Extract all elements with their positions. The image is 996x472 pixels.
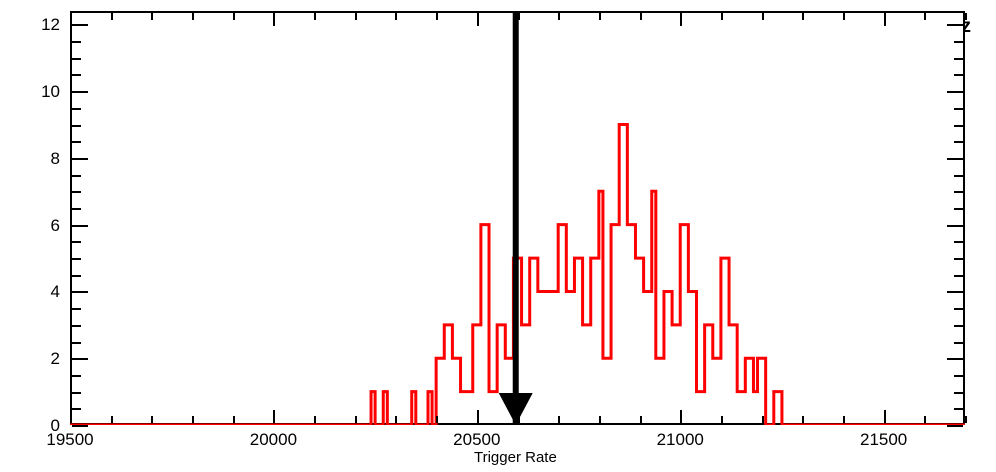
x-axis-mirror-tick — [477, 13, 479, 26]
y-axis-mirror-tick — [947, 425, 963, 427]
y-axis-minor-tick — [72, 141, 81, 143]
y-axis-minor-tick — [72, 208, 81, 210]
x-axis-major-tick — [884, 410, 886, 423]
y-axis-minor-tick — [72, 408, 81, 410]
y-axis-minor-tick — [72, 275, 81, 277]
x-axis-mirror-tick — [640, 13, 642, 20]
y-axis-minor-tick — [72, 108, 81, 110]
y-axis-tick-label: 12 — [18, 16, 60, 33]
y-axis-mirror-tick — [954, 141, 963, 143]
y-axis-mirror-tick — [954, 275, 963, 277]
x-axis-minor-tick — [395, 416, 397, 423]
y-axis-mirror-tick — [947, 358, 963, 360]
y-axis-mirror-tick — [954, 175, 963, 177]
y-axis-minor-tick — [72, 125, 81, 127]
y-axis-major-tick — [72, 158, 88, 160]
y-axis-minor-tick — [72, 308, 81, 310]
x-axis-mirror-tick — [518, 13, 520, 20]
y-axis-tick-label: 10 — [18, 83, 60, 100]
y-axis-mirror-tick — [954, 325, 963, 327]
y-axis-mirror-tick — [954, 241, 963, 243]
x-axis-mirror-tick — [802, 13, 804, 20]
y-axis-tick-label: 2 — [18, 350, 60, 367]
y-axis-mirror-tick — [954, 375, 963, 377]
x-axis-minor-tick — [436, 416, 438, 423]
y-axis-mirror-tick — [947, 158, 963, 160]
x-axis-minor-tick — [151, 416, 153, 423]
x-axis-mirror-tick — [273, 13, 275, 26]
x-axis-minor-tick — [965, 416, 967, 423]
x-axis-minor-tick — [640, 416, 642, 423]
y-axis-mirror-tick — [954, 392, 963, 394]
x-axis-minor-tick — [762, 416, 764, 423]
y-axis-mirror-tick — [954, 74, 963, 76]
histogram-svg — [70, 11, 965, 425]
y-axis-major-tick — [72, 358, 88, 360]
x-axis-minor-tick — [721, 416, 723, 423]
y-axis-mirror-tick — [954, 191, 963, 193]
x-axis-mirror-tick — [70, 13, 72, 26]
y-axis-mirror-tick — [947, 225, 963, 227]
x-axis-minor-tick — [802, 416, 804, 423]
x-axis-minor-tick — [558, 416, 560, 423]
x-axis-mirror-tick — [762, 13, 764, 20]
y-axis-mirror-tick — [954, 408, 963, 410]
y-axis-major-tick — [72, 225, 88, 227]
x-axis-minor-tick — [843, 416, 845, 423]
current-rate-marker — [499, 11, 533, 425]
x-axis-mirror-tick — [151, 13, 153, 20]
x-axis-mirror-tick — [965, 13, 967, 20]
x-axis-mirror-tick — [599, 13, 601, 20]
y-axis-minor-tick — [72, 258, 81, 260]
x-axis-mirror-tick — [436, 13, 438, 20]
y-axis-major-tick — [72, 24, 88, 26]
x-axis-major-tick — [273, 410, 275, 423]
y-axis-minor-tick — [72, 342, 81, 344]
x-axis-mirror-tick — [192, 13, 194, 20]
y-axis-minor-tick — [72, 375, 81, 377]
y-axis-mirror-tick — [947, 91, 963, 93]
y-axis-mirror-tick — [954, 258, 963, 260]
x-axis-minor-tick — [518, 416, 520, 423]
y-axis-mirror-tick — [954, 108, 963, 110]
y-axis-mirror-tick — [954, 308, 963, 310]
x-axis-major-tick — [477, 410, 479, 423]
x-axis-mirror-tick — [233, 13, 235, 20]
y-axis-major-tick — [72, 425, 88, 427]
x-axis-minor-tick — [314, 416, 316, 423]
x-axis-tick-label: 21500 — [839, 431, 929, 448]
y-axis-major-tick — [72, 91, 88, 93]
y-axis-mirror-tick — [947, 24, 963, 26]
x-axis-minor-tick — [355, 416, 357, 423]
x-axis-minor-tick — [599, 416, 601, 423]
y-axis-tick-label: 4 — [18, 283, 60, 300]
x-axis-mirror-tick — [314, 13, 316, 20]
x-axis-mirror-tick — [111, 13, 113, 20]
y-axis-mirror-tick — [954, 41, 963, 43]
x-axis-tick-label: 20000 — [228, 431, 318, 448]
y-axis-minor-tick — [72, 392, 81, 394]
plot-area — [70, 11, 965, 425]
y-axis-minor-tick — [72, 74, 81, 76]
marker-arrowhead-icon — [499, 393, 533, 425]
y-axis-minor-tick — [72, 325, 81, 327]
x-axis-title: Trigger Rate — [474, 449, 557, 466]
y-axis-minor-tick — [72, 58, 81, 60]
x-axis-mirror-tick — [680, 13, 682, 26]
x-axis-major-tick — [680, 410, 682, 423]
x-axis-mirror-tick — [843, 13, 845, 20]
y-axis-minor-tick — [72, 41, 81, 43]
x-axis-tick-label: 21000 — [635, 431, 725, 448]
y-axis-tick-label: 8 — [18, 150, 60, 167]
y-axis-mirror-tick — [947, 291, 963, 293]
x-axis-tick-label: 20500 — [432, 431, 522, 448]
y-axis-tick-label: 6 — [18, 217, 60, 234]
y-axis-major-tick — [72, 291, 88, 293]
chart-canvas: Current: 20595.64 Hz 024681012 195002000… — [0, 0, 996, 472]
x-axis-minor-tick — [111, 416, 113, 423]
y-axis-minor-tick — [72, 241, 81, 243]
x-axis-major-tick — [70, 410, 72, 423]
y-axis-mirror-tick — [954, 58, 963, 60]
y-axis-mirror-tick — [954, 208, 963, 210]
x-axis-tick-label: 19500 — [25, 431, 115, 448]
y-axis-minor-tick — [72, 175, 81, 177]
x-axis-mirror-tick — [924, 13, 926, 20]
x-axis-minor-tick — [233, 416, 235, 423]
x-axis-minor-tick — [924, 416, 926, 423]
x-axis-mirror-tick — [395, 13, 397, 20]
y-axis-minor-tick — [72, 191, 81, 193]
y-axis-mirror-tick — [954, 125, 963, 127]
x-axis-mirror-tick — [355, 13, 357, 20]
x-axis-minor-tick — [192, 416, 194, 423]
y-axis-mirror-tick — [954, 342, 963, 344]
x-axis-mirror-tick — [884, 13, 886, 26]
x-axis-mirror-tick — [558, 13, 560, 20]
x-axis-mirror-tick — [721, 13, 723, 20]
